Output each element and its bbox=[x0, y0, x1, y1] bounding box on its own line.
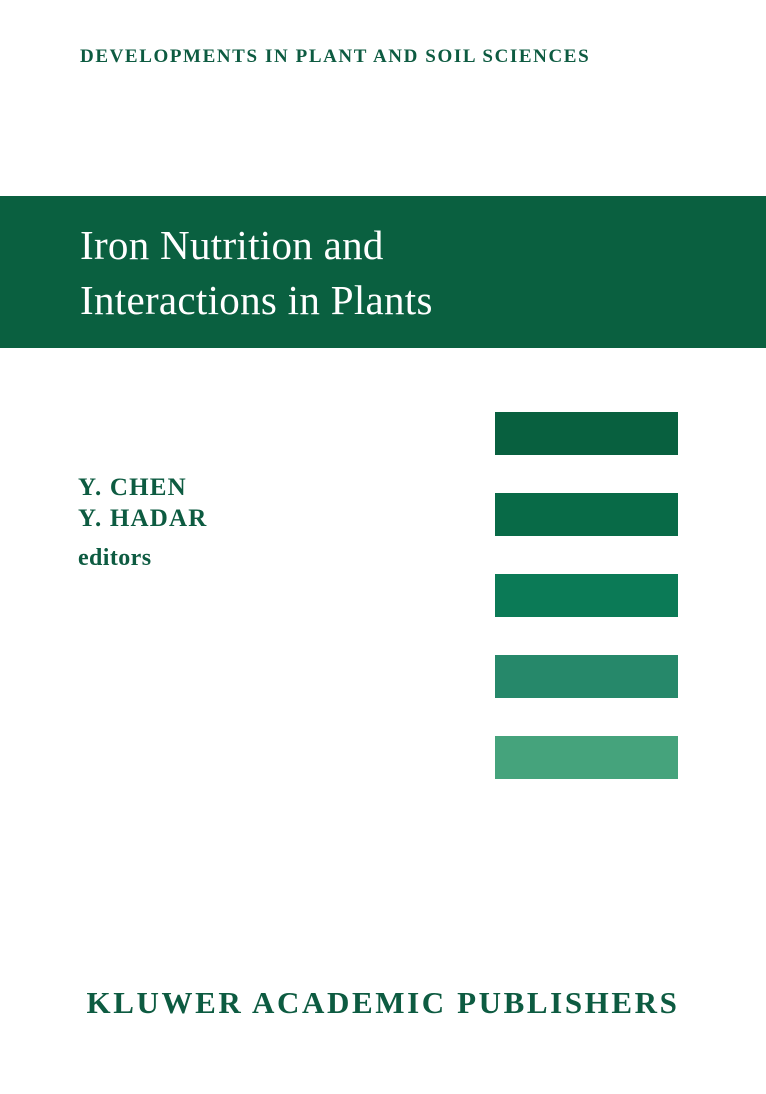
decorative-bar bbox=[495, 493, 678, 536]
decorative-bar bbox=[495, 412, 678, 455]
editors-block: Y. CHEN Y. HADAR editors bbox=[78, 472, 208, 573]
editor-name-1: Y. CHEN bbox=[78, 472, 208, 503]
editor-name-2: Y. HADAR bbox=[78, 503, 208, 534]
title-band: Iron Nutrition and Interactions in Plant… bbox=[0, 196, 766, 348]
decorative-bar bbox=[495, 736, 678, 779]
series-title: DEVELOPMENTS IN PLANT AND SOIL SCIENCES bbox=[80, 46, 590, 68]
book-title-line-2: Interactions in Plants bbox=[80, 273, 700, 328]
decorative-bar bbox=[495, 655, 678, 698]
publisher-name: KLUWER ACADEMIC PUBLISHERS bbox=[0, 985, 766, 1021]
decorative-bar bbox=[495, 574, 678, 617]
editors-role-label: editors bbox=[78, 543, 208, 573]
title-block: Iron Nutrition and Interactions in Plant… bbox=[80, 218, 700, 328]
book-cover: DEVELOPMENTS IN PLANT AND SOIL SCIENCES … bbox=[0, 0, 766, 1094]
book-title-line-1: Iron Nutrition and bbox=[80, 218, 700, 273]
decorative-bar-stack bbox=[495, 412, 678, 779]
